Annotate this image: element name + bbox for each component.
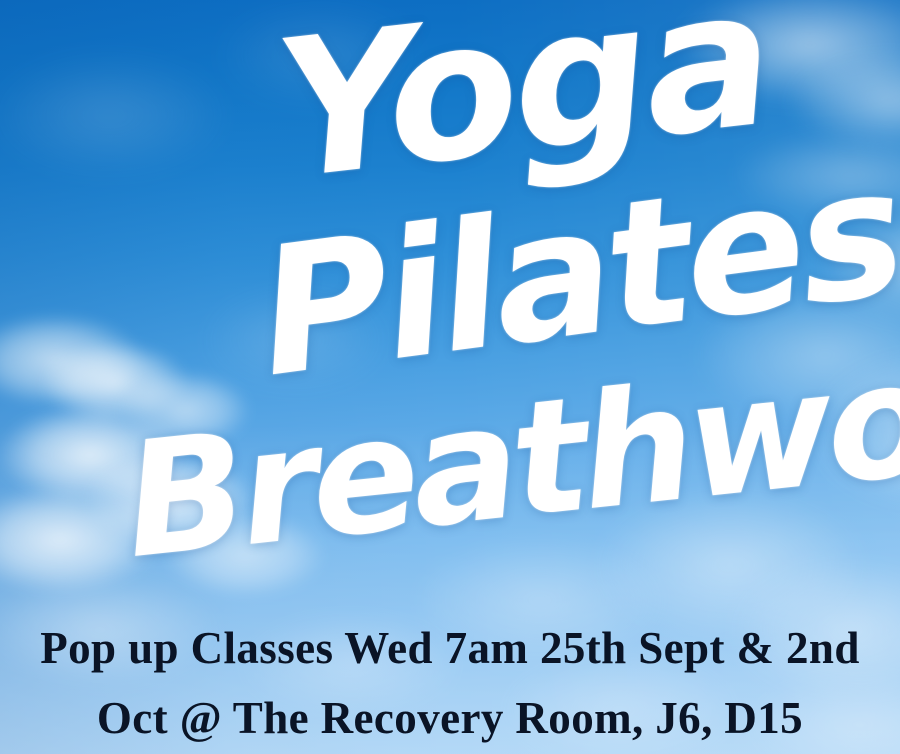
caption-line-1: Pop up Classes Wed 7am 25th Sept & 2nd xyxy=(0,622,900,674)
caption-line-2: Oct @ The Recovery Room, J6, D15 xyxy=(0,692,900,744)
poster-canvas: Yoga Pilates Breathwork Pop up Classes W… xyxy=(0,0,900,754)
